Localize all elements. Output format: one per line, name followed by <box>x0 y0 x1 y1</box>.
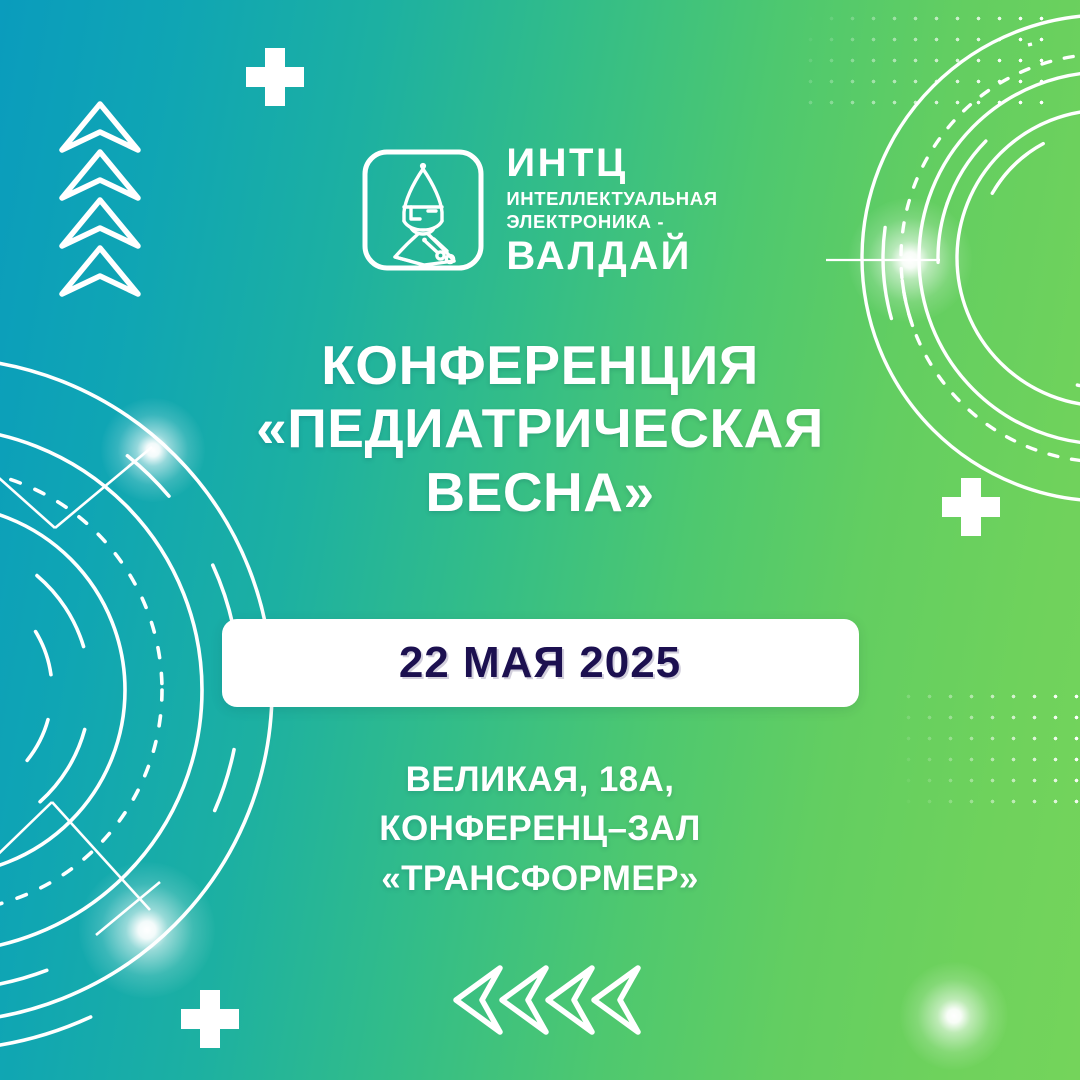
poster-content: ИНТЦ ИНТЕЛЛЕКТУАЛЬНАЯ ЭЛЕКТРОНИКА - ВАЛД… <box>0 0 1080 1080</box>
bogatyr-helmet-circuit-icon <box>362 149 484 271</box>
headline-line-3: ВЕСНА» <box>425 461 654 523</box>
poster-canvas: ИНТЦ ИНТЕЛЛЕКТУАЛЬНАЯ ЭЛЕКТРОНИКА - ВАЛД… <box>0 0 1080 1080</box>
logo-name: ВАЛДАЙ <box>506 236 717 276</box>
date-badge: 22 МАЯ 2025 <box>222 619 859 707</box>
logo-lockup: ИНТЦ ИНТЕЛЛЕКТУАЛЬНАЯ ЭЛЕКТРОНИКА - ВАЛД… <box>362 143 717 276</box>
venue-line-3: «ТРАНСФОРМЕР» <box>381 859 698 898</box>
venue-address: ВЕЛИКАЯ, 18А, КОНФЕРЕНЦ–ЗАЛ «ТРАНСФОРМЕР… <box>379 755 700 904</box>
logo-line3: ЭЛЕКТРОНИКА - <box>506 213 717 232</box>
venue-line-2: КОНФЕРЕНЦ–ЗАЛ <box>379 809 700 848</box>
headline-line-2: «ПЕДИАТРИЧЕСКАЯ <box>256 397 824 459</box>
page-title: КОНФЕРЕНЦИЯ «ПЕДИАТРИЧЕСКАЯ ВЕСНА» <box>190 334 890 524</box>
logo-abbr: ИНТЦ <box>506 143 717 183</box>
logo-wordmark: ИНТЦ ИНТЕЛЛЕКТУАЛЬНАЯ ЭЛЕКТРОНИКА - ВАЛД… <box>506 143 717 276</box>
date-text: 22 МАЯ 2025 <box>399 638 681 688</box>
headline-line-1: КОНФЕРЕНЦИЯ <box>321 334 759 396</box>
venue-line-1: ВЕЛИКАЯ, 18А, <box>406 760 675 799</box>
logo-line2: ИНТЕЛЛЕКТУАЛЬНАЯ <box>506 190 717 209</box>
